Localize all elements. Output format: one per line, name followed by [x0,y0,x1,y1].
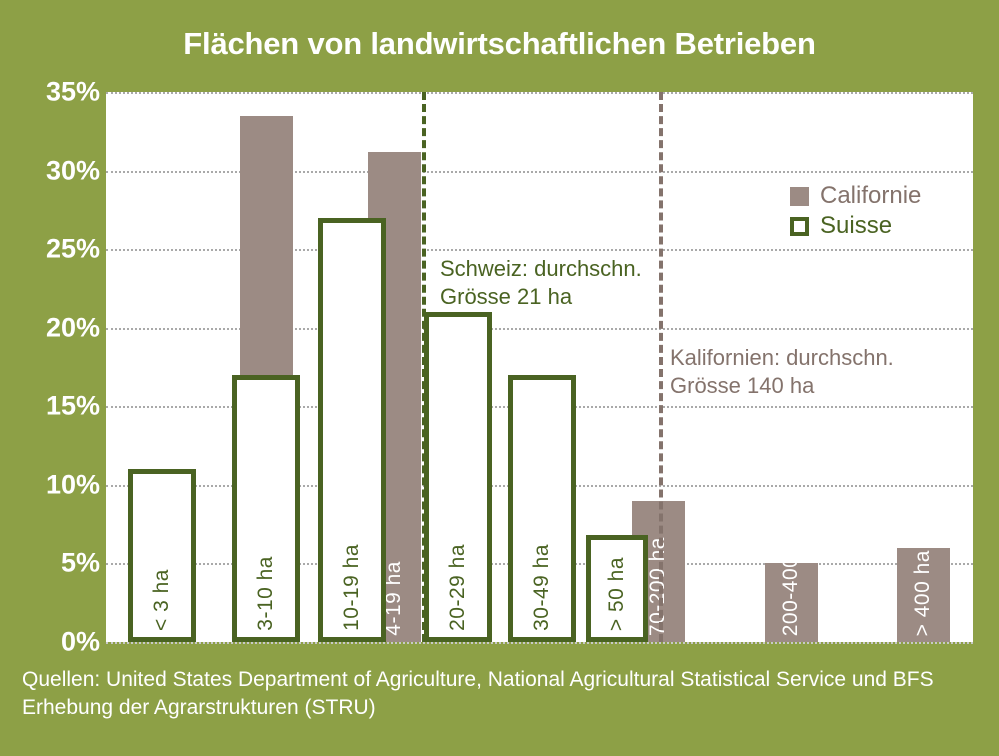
legend: Californie Suisse [790,182,921,242]
y-axis-tick-label: 25% [8,234,100,265]
y-axis-tick-label: 20% [8,312,100,343]
y-axis-tick-label: 35% [8,77,100,108]
kalifornien-average-line [659,92,663,642]
bar-label: 200-400 ha [780,563,802,636]
bar-20-29-ha[interactable]: 20-29 ha [424,312,492,642]
chart-root: Flächen von landwirtschaftlichen Betrieb… [0,0,999,756]
y-axis-tick-label: 10% [8,469,100,500]
bar-10-19-ha[interactable]: 10-19 ha [318,218,386,642]
annotation-schweiz-durchschnitt: Schweiz: durchschn. Grösse 21 ha [440,255,642,310]
gridline [106,642,973,644]
bar-label: < 3 ha [151,569,173,631]
legend-swatch-californie [790,187,809,206]
plot-area: < 4 ha4-19 ha20-70 ha70-200 ha200-400 ha… [106,92,973,642]
bar-200-400-ha[interactable]: 200-400 ha [765,563,818,642]
bar-label: > 400 ha [912,550,934,636]
bar-label: 3-10 ha [255,556,277,631]
y-axis-tick-label: 15% [8,391,100,422]
bar-label: > 50 ha [606,557,628,631]
y-axis-tick-label: 5% [8,548,100,579]
bar-label: 20-29 ha [447,544,469,631]
gridline [106,92,973,94]
legend-swatch-suisse [790,217,809,236]
bar-400-ha[interactable]: > 400 ha [897,548,950,642]
bar-3-ha[interactable]: < 3 ha [128,469,196,642]
annotation-kalifornien-durchschnitt: Kalifornien: durchschn. Grösse 140 ha [670,344,894,399]
gridline [106,249,973,251]
bar-30-49-ha[interactable]: 30-49 ha [508,375,576,642]
page-title: Flächen von landwirtschaftlichen Betrieb… [0,26,999,62]
bar-label: 30-49 ha [531,544,553,631]
legend-item-suisse[interactable]: Suisse [790,212,921,240]
y-axis: 35%30%25%20%15%10%5%0% [0,92,100,642]
bar-label: 10-19 ha [341,544,363,631]
legend-label-suisse: Suisse [820,212,892,240]
gridline [106,328,973,330]
bar-3-10-ha[interactable]: 3-10 ha [232,375,300,642]
bar-50-ha[interactable]: > 50 ha [586,535,648,642]
legend-label-californie: Californie [820,182,921,210]
legend-item-californie[interactable]: Californie [790,182,921,210]
gridline [106,171,973,173]
source-note: Quellen: United States Department of Agr… [22,666,982,723]
y-axis-tick-label: 30% [8,155,100,186]
bar-label: 4-19 ha [383,561,405,636]
y-axis-tick-label: 0% [8,627,100,658]
schweiz-average-line [422,92,426,642]
